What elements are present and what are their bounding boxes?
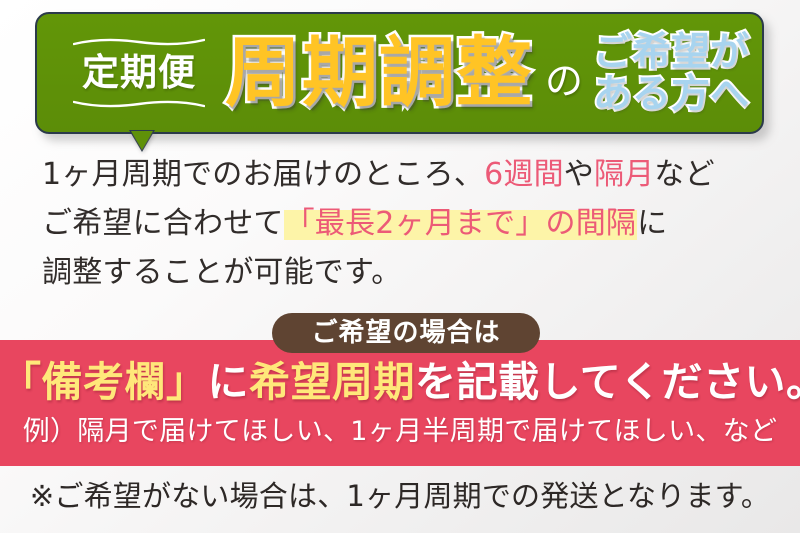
condition-pill: ご希望の場合は: [272, 313, 540, 353]
header-main-title: 周期調整: [225, 35, 533, 111]
body-line-2-part-c: に: [637, 206, 667, 241]
instruction-tail: を記載してください。: [415, 358, 800, 406]
header-wish-line-2: ある方へ: [593, 74, 749, 116]
body-line-3: 調整することが可能です。: [42, 248, 772, 297]
speech-tail-icon: [131, 131, 153, 150]
body-line-1: 1ヶ月周期でのお届けのところ、6週間や隔月など: [42, 150, 772, 199]
body-line-2-highlight: 「最長2ヶ月まで」の間隔: [284, 206, 638, 241]
instruction-desired-cycle: 希望周期: [249, 358, 415, 406]
instruction-particle-ni: に: [208, 358, 250, 406]
wavy-line-bottom-icon: [73, 99, 205, 108]
instruction-main-line: 「備考欄」に希望周期を記載してください。: [0, 362, 800, 403]
body-line-1-part-c: や: [564, 157, 594, 192]
body-line-1-accent-6weeks: 6週間: [484, 157, 564, 192]
body-paragraph: 1ヶ月周期でのお届けのところ、6週間や隔月など ご希望に合わせて「最長2ヶ月まで…: [42, 150, 772, 297]
header-wish-line-1: ご希望が: [593, 32, 749, 74]
instruction-remarks-field: 「備考欄」: [0, 358, 208, 406]
instruction-example-line: 例）隔月で届けてほしい、1ヶ月半周期で届けてほしい、など: [0, 418, 800, 445]
wavy-line-top-icon: [73, 38, 205, 47]
header-wish-block: ご希望が ある方へ: [593, 32, 749, 116]
header-content: 定期便 周期調整 の ご希望が ある方へ: [37, 14, 762, 132]
body-line-2: ご希望に合わせて「最長2ヶ月まで」の間隔に: [42, 199, 772, 248]
instruction-band: 「備考欄」に希望周期を記載してください。 例）隔月で届けてほしい、1ヶ月半周期で…: [0, 340, 800, 466]
subscription-tag-label: 定期便: [82, 54, 196, 91]
subscription-tag: 定期便: [63, 38, 215, 108]
body-line-1-part-e: など: [654, 157, 714, 192]
footer-note: ※ご希望がない場合は、1ヶ月周期での発送となります。: [0, 482, 800, 511]
body-line-1-accent-bimonthly: 隔月: [594, 157, 654, 192]
body-line-1-part-a: 1ヶ月周期でのお届けのところ、: [42, 157, 484, 192]
header-particle: の: [545, 62, 583, 100]
body-line-2-part-a: ご希望に合わせて: [42, 206, 284, 241]
condition-pill-label: ご希望の場合は: [311, 320, 500, 346]
promo-banner: 定期便 周期調整 の ご希望が ある方へ 1ヶ月周期でのお届けのところ、6週間や…: [0, 0, 800, 533]
header-green-box: 定期便 周期調整 の ご希望が ある方へ: [35, 12, 764, 134]
